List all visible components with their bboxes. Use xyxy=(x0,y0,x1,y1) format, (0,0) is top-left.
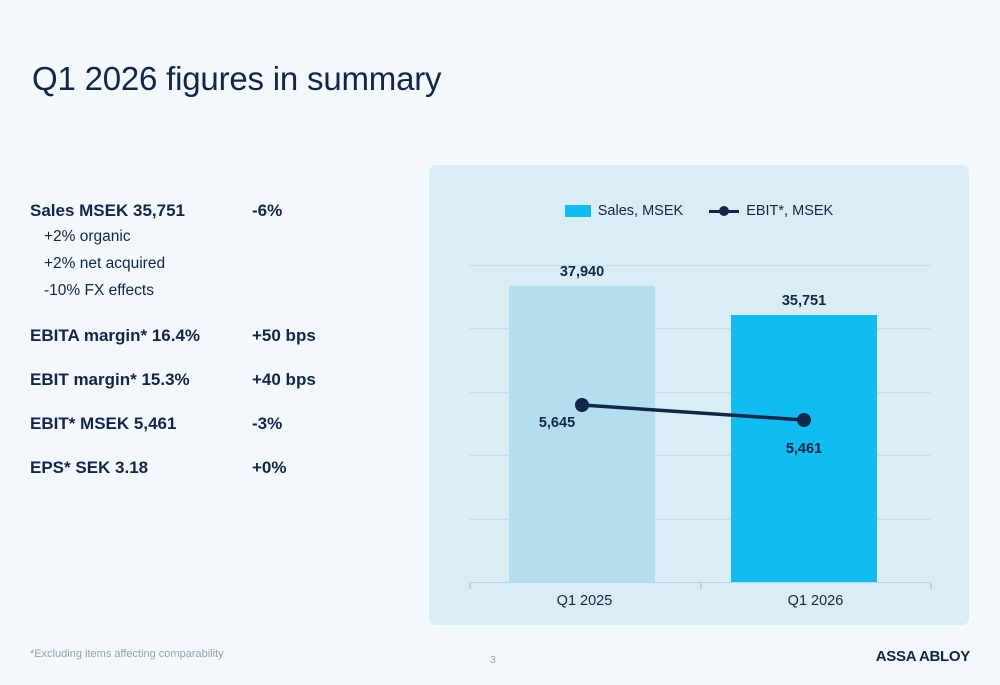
metric-row: Sales MSEK 35,751 -6% xyxy=(30,202,410,219)
metric-sub-item: +2% organic xyxy=(44,228,410,246)
x-axis-label: Q1 2026 xyxy=(700,593,931,609)
legend-label: Sales, MSEK xyxy=(598,203,683,219)
metric-group-ebit: EBIT* MSEK 5,461 -3% xyxy=(30,415,410,432)
page-title: Q1 2026 figures in summary xyxy=(32,60,441,98)
metric-row: EBITA margin* 16.4% +50 bps xyxy=(30,327,410,344)
metric-group-eps: EPS* SEK 3.18 +0% xyxy=(30,459,410,476)
metric-row: EBIT* MSEK 5,461 -3% xyxy=(30,415,410,432)
metric-value: +40 bps xyxy=(252,371,316,388)
assa-abloy-logo: ASSA ABLOY xyxy=(876,648,970,665)
metric-value: -3% xyxy=(252,415,282,432)
metrics-list: Sales MSEK 35,751 -6% +2% organic +2% ne… xyxy=(30,202,410,498)
legend-swatch-icon xyxy=(565,205,591,217)
legend-item-ebit: EBIT*, MSEK xyxy=(709,203,833,219)
metric-row: EPS* SEK 3.18 +0% xyxy=(30,459,410,476)
line-point-label: 5,461 xyxy=(764,441,844,457)
legend-item-sales: Sales, MSEK xyxy=(565,203,683,219)
chart-legend: Sales, MSEK EBIT*, MSEK xyxy=(429,203,969,219)
metric-row: EBIT margin* 15.3% +40 bps xyxy=(30,371,410,388)
metric-label: EBIT margin* 15.3% xyxy=(30,371,252,388)
metric-group-ebita-margin: EBITA margin* 16.4% +50 bps xyxy=(30,327,410,344)
chart-plot-area: 37,940 35,751 5,645 5,461 xyxy=(469,265,931,583)
metric-value: +50 bps xyxy=(252,327,316,344)
x-axis-label: Q1 2025 xyxy=(469,593,700,609)
page-number: 3 xyxy=(490,654,496,666)
metric-group-ebit-margin: EBIT margin* 15.3% +40 bps xyxy=(30,371,410,388)
line-point-label: 5,645 xyxy=(517,415,597,431)
metric-label: EBIT* MSEK 5,461 xyxy=(30,415,252,432)
axis-tick xyxy=(930,583,932,589)
metric-label: Sales MSEK 35,751 xyxy=(30,202,252,219)
metric-group-sales: Sales MSEK 35,751 -6% +2% organic +2% ne… xyxy=(30,202,410,300)
metric-sub-item: +2% net acquired xyxy=(44,255,410,273)
slide: Q1 2026 figures in summary Sales MSEK 35… xyxy=(0,0,1000,685)
metric-value: -6% xyxy=(252,202,282,219)
legend-line-marker-icon xyxy=(709,205,739,217)
legend-label: EBIT*, MSEK xyxy=(746,203,833,219)
axis-tick xyxy=(469,583,471,589)
footnote: *Excluding items affecting comparability xyxy=(30,648,224,660)
chart-panel: Sales, MSEK EBIT*, MSEK 37,940 35,751 xyxy=(429,165,969,625)
axis-tick xyxy=(700,583,702,589)
x-axis-labels: Q1 2025 Q1 2026 xyxy=(469,593,931,609)
metric-sub-item: -10% FX effects xyxy=(44,282,410,300)
metric-value: +0% xyxy=(252,459,287,476)
metric-label: EPS* SEK 3.18 xyxy=(30,459,252,476)
metric-label: EBITA margin* 16.4% xyxy=(30,327,252,344)
